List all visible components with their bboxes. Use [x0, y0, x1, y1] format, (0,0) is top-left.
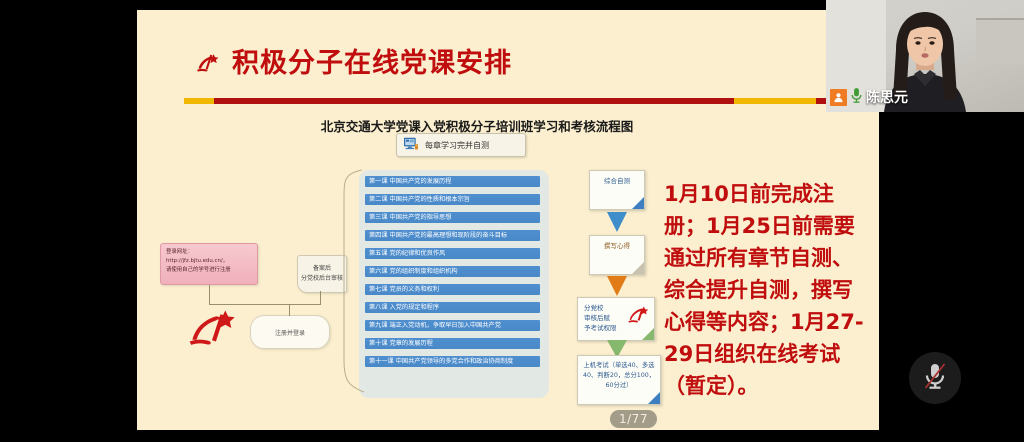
slide-title: 积极分子在线党课安排	[232, 50, 512, 77]
flow-node-registration-url: 登录网址： http://jfz.bjtu.edu.cn/， 请使用自己的学号进…	[160, 243, 258, 285]
page-indicator: 1/77	[610, 410, 657, 428]
corner-fold-icon	[632, 197, 644, 209]
url-instruction: 请使用自己的学号进行注册	[166, 266, 252, 275]
participant-video-tile[interactable]: 陈思元	[826, 0, 1024, 112]
participant-name: 陈思元	[866, 91, 908, 105]
slide-annotation-schedule: 1月10日前完成注册；1月25日前需要通过所有章节自测、综合提升自测，撰写心得等…	[664, 178, 864, 402]
corner-fold-icon	[642, 328, 654, 340]
divider-gold-segment	[184, 98, 214, 104]
flow-node-chapter-selftest[interactable]: 每章学习完并自测	[396, 133, 526, 157]
flow-connector-curve	[342, 160, 602, 410]
review-line-1: 备案后	[313, 264, 331, 274]
presentation-slide[interactable]: 积极分子在线党课安排 北京交通大学党课入党积极分子培训班学习和考核流程图	[137, 10, 879, 430]
flow-node-branch-school-review: 备案后 分党校后台审核	[297, 255, 347, 293]
party-emblem-graphic	[185, 305, 240, 351]
arrow-down-icon	[604, 210, 630, 238]
flow-node-register-login: 注册并登录	[250, 315, 330, 349]
microphone-muted-icon	[922, 361, 948, 395]
participant-icon	[830, 89, 847, 106]
connector-line	[289, 304, 290, 316]
screen: 积极分子在线党课安排 北京交通大学党课入党积极分子培训班学习和考核流程图	[0, 0, 1024, 442]
mute-microphone-button[interactable]	[909, 352, 961, 404]
party-emblem-icon-small	[626, 304, 650, 327]
microphone-icon	[850, 87, 863, 108]
participant-label: 陈思元	[830, 87, 908, 108]
flow-node-comprehensive-selftest-label: 综合自测	[604, 177, 630, 185]
slide-title-row: 积极分子在线党课安排	[192, 48, 512, 78]
connector-line	[209, 285, 210, 305]
corner-fold-icon	[648, 392, 660, 404]
url-address: http://jfz.bjtu.edu.cn/，	[166, 257, 252, 266]
url-label: 登录网址：	[166, 248, 252, 257]
computer-monitor-icon	[403, 136, 419, 155]
flow-node-write-reflection-label: 撰写心得	[604, 242, 630, 250]
party-emblem-icon	[192, 48, 222, 78]
flow-node-chapter-selftest-label: 每章学习完并自测	[425, 140, 489, 151]
connector-line	[320, 291, 321, 305]
corner-fold-icon	[632, 262, 644, 274]
review-line-2: 分党校后台审核	[301, 274, 343, 284]
divider-gold-segment-right	[734, 98, 816, 104]
title-divider-right	[734, 98, 834, 104]
